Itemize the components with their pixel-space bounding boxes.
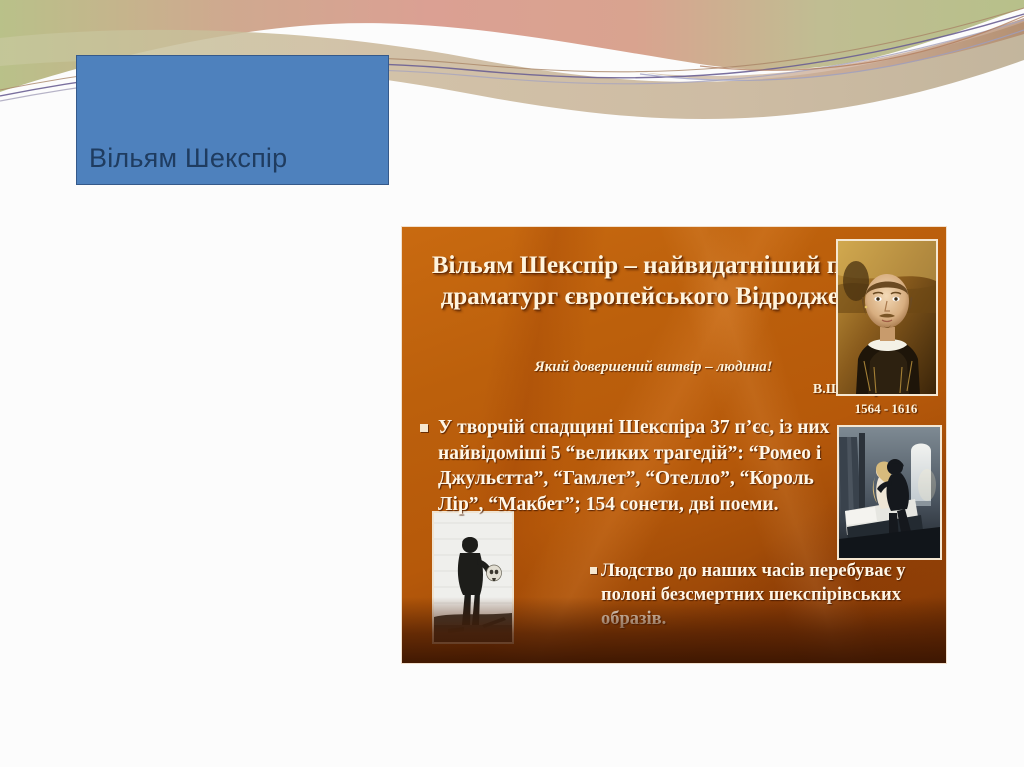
- image-bullet-item-2: Людство до наших часів перебуває у полон…: [590, 559, 935, 631]
- slide-title-box[interactable]: Вільям Шекспір: [76, 55, 389, 185]
- image-headline: Вільям Шекспір – найвидатніший поет і др…: [426, 251, 896, 312]
- image-bullet-item-1: У творчій спадщині Шекспіра 37 п’єс, із …: [420, 415, 840, 518]
- image-bullet-text-1: У творчій спадщині Шекспіра 37 п’єс, із …: [438, 415, 840, 518]
- romeo-and-juliet-image: [837, 425, 942, 560]
- image-quote: Який довершений витвір – людина!: [426, 359, 881, 376]
- bullet-marker-icon: [420, 424, 428, 432]
- shakespeare-portrait-image: [836, 239, 938, 396]
- bullet-marker-icon: [590, 567, 597, 574]
- page-title: Вільям Шекспір: [89, 143, 382, 174]
- image-bullet-text-2: Людство до наших часів перебуває у полон…: [601, 559, 935, 631]
- hamlet-engraving-image: [432, 511, 514, 644]
- image-quote-author: В.Шекспір: [426, 382, 881, 398]
- content-image[interactable]: Вільям Шекспір – найвидатніший поет і др…: [401, 226, 947, 664]
- portrait-dates-caption: 1564 - 1616: [836, 401, 936, 417]
- presentation-slide: Вільям Шекспір Вільям Шекспір – найвидат…: [0, 0, 1024, 767]
